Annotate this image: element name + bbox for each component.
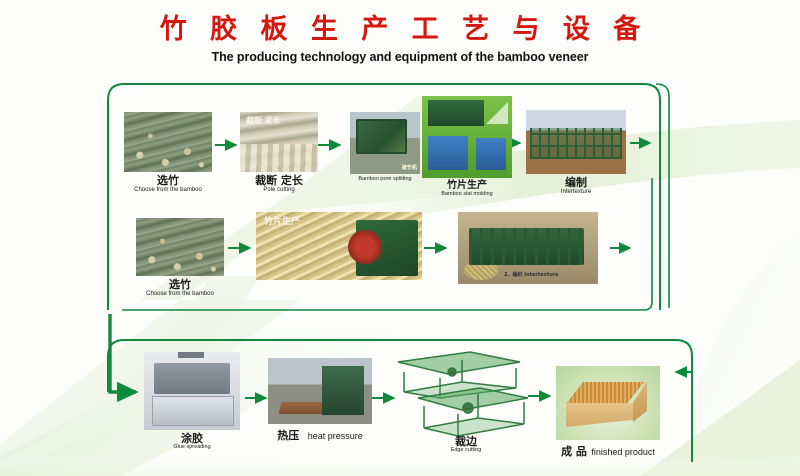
photo-cut-poles: 裁断 定长 bbox=[240, 112, 318, 172]
woven-mat-sample bbox=[464, 260, 498, 280]
caption: 裁断 定长 Pole cutting bbox=[240, 175, 318, 193]
caption-en: heat pressure bbox=[308, 431, 363, 441]
caption: 编制 Intertexture bbox=[526, 177, 626, 195]
photo-inline-caption: 2、编织 Intertexture bbox=[504, 271, 559, 278]
poster-canvas: 竹 胶 板 生 产 工 艺 与 设 备 The producing techno… bbox=[0, 0, 800, 476]
caption: 涂胶 Glue spreading bbox=[144, 433, 240, 450]
step-choose-bamboo-2[interactable]: 选竹 Choose from the bamboo bbox=[136, 218, 224, 297]
step-intertexture-1[interactable]: 编制 Intertexture bbox=[526, 110, 626, 195]
caption-en: finished product bbox=[591, 447, 655, 457]
board-3d bbox=[556, 366, 660, 440]
caption-en: Intertexture bbox=[526, 189, 626, 195]
step-sliver-making[interactable]: 竹片生产 bbox=[256, 212, 422, 280]
photo-bamboo-poles bbox=[124, 112, 212, 172]
caption: 热压 heat pressure bbox=[268, 427, 372, 444]
caption-en: Choose from the bamboo bbox=[136, 291, 224, 297]
caption-en: Choose from the bamboo bbox=[124, 187, 212, 193]
caption: 成 品 finished product bbox=[556, 443, 660, 460]
photo-hot-press bbox=[268, 358, 372, 424]
photo-bamboo-slivers-and-machine: 竹片生产 bbox=[256, 212, 422, 280]
step-pole-splitting[interactable]: 破竹机 Bamboo pore splitting bbox=[350, 112, 420, 183]
photo-bamboo-poles bbox=[136, 218, 224, 276]
flywheel bbox=[348, 230, 382, 264]
caption: 选竹 Choose from the bamboo bbox=[136, 279, 224, 297]
step-finished-product[interactable]: 成 品 finished product bbox=[556, 366, 660, 460]
step-slat-molding[interactable]: 竹片生产 Bamboo slat molding bbox=[422, 96, 512, 197]
photo-slat-molding-machines bbox=[422, 96, 512, 178]
caption-en: Bamboo pore splitting bbox=[350, 177, 420, 183]
photo-watermark: 破竹机 bbox=[402, 164, 417, 171]
caption-cn: 涂胶 bbox=[144, 433, 240, 445]
caption-cn: 成 品 bbox=[561, 445, 587, 458]
step-heat-pressure[interactable]: 热压 heat pressure bbox=[268, 358, 372, 444]
caption-cn: 选竹 bbox=[124, 175, 212, 187]
photo-weaving-machine: 2、编织 Intertexture bbox=[458, 212, 598, 284]
photo-glue-spreader bbox=[144, 352, 240, 430]
caption-en: Bamboo slat molding bbox=[422, 192, 512, 198]
step-glue-spreading[interactable]: 涂胶 Glue spreading bbox=[144, 352, 240, 450]
photo-watermark: 竹片生产 bbox=[264, 214, 300, 227]
photo-intertexture-machine bbox=[526, 110, 626, 174]
step-choose-bamboo-1[interactable]: 选竹 Choose from the bamboo bbox=[124, 112, 212, 193]
caption-cn: 编制 bbox=[526, 177, 626, 189]
caption-en: Glue spreading bbox=[144, 445, 240, 451]
photo-finished-bamboo-board bbox=[556, 366, 660, 440]
photo-bamboo-splitter: 破竹机 bbox=[350, 112, 420, 174]
step-edge-cutting[interactable]: 裁边 Edge cutting bbox=[394, 352, 538, 453]
photo-watermark: 裁断 定长 bbox=[246, 115, 281, 126]
caption: 选竹 Choose from the bamboo bbox=[124, 175, 212, 193]
caption-cn: 裁断 定长 bbox=[240, 175, 318, 187]
caption-en: Pole cutting bbox=[240, 187, 318, 193]
caption-cn: 竹片生产 bbox=[422, 181, 512, 192]
caption-cn: 选竹 bbox=[136, 279, 224, 291]
photo-edge-cutting-machines bbox=[394, 352, 538, 440]
caption-cn: 热压 bbox=[277, 429, 299, 442]
step-pole-cutting[interactable]: 裁断 定长 裁断 定长 Pole cutting bbox=[240, 112, 318, 193]
caption: 竹片生产 Bamboo slat molding bbox=[422, 181, 512, 197]
caption: Bamboo pore splitting bbox=[350, 177, 420, 183]
step-intertexture-2[interactable]: 2、编织 Intertexture bbox=[458, 212, 598, 284]
caption-en: Edge cutting bbox=[394, 448, 538, 454]
